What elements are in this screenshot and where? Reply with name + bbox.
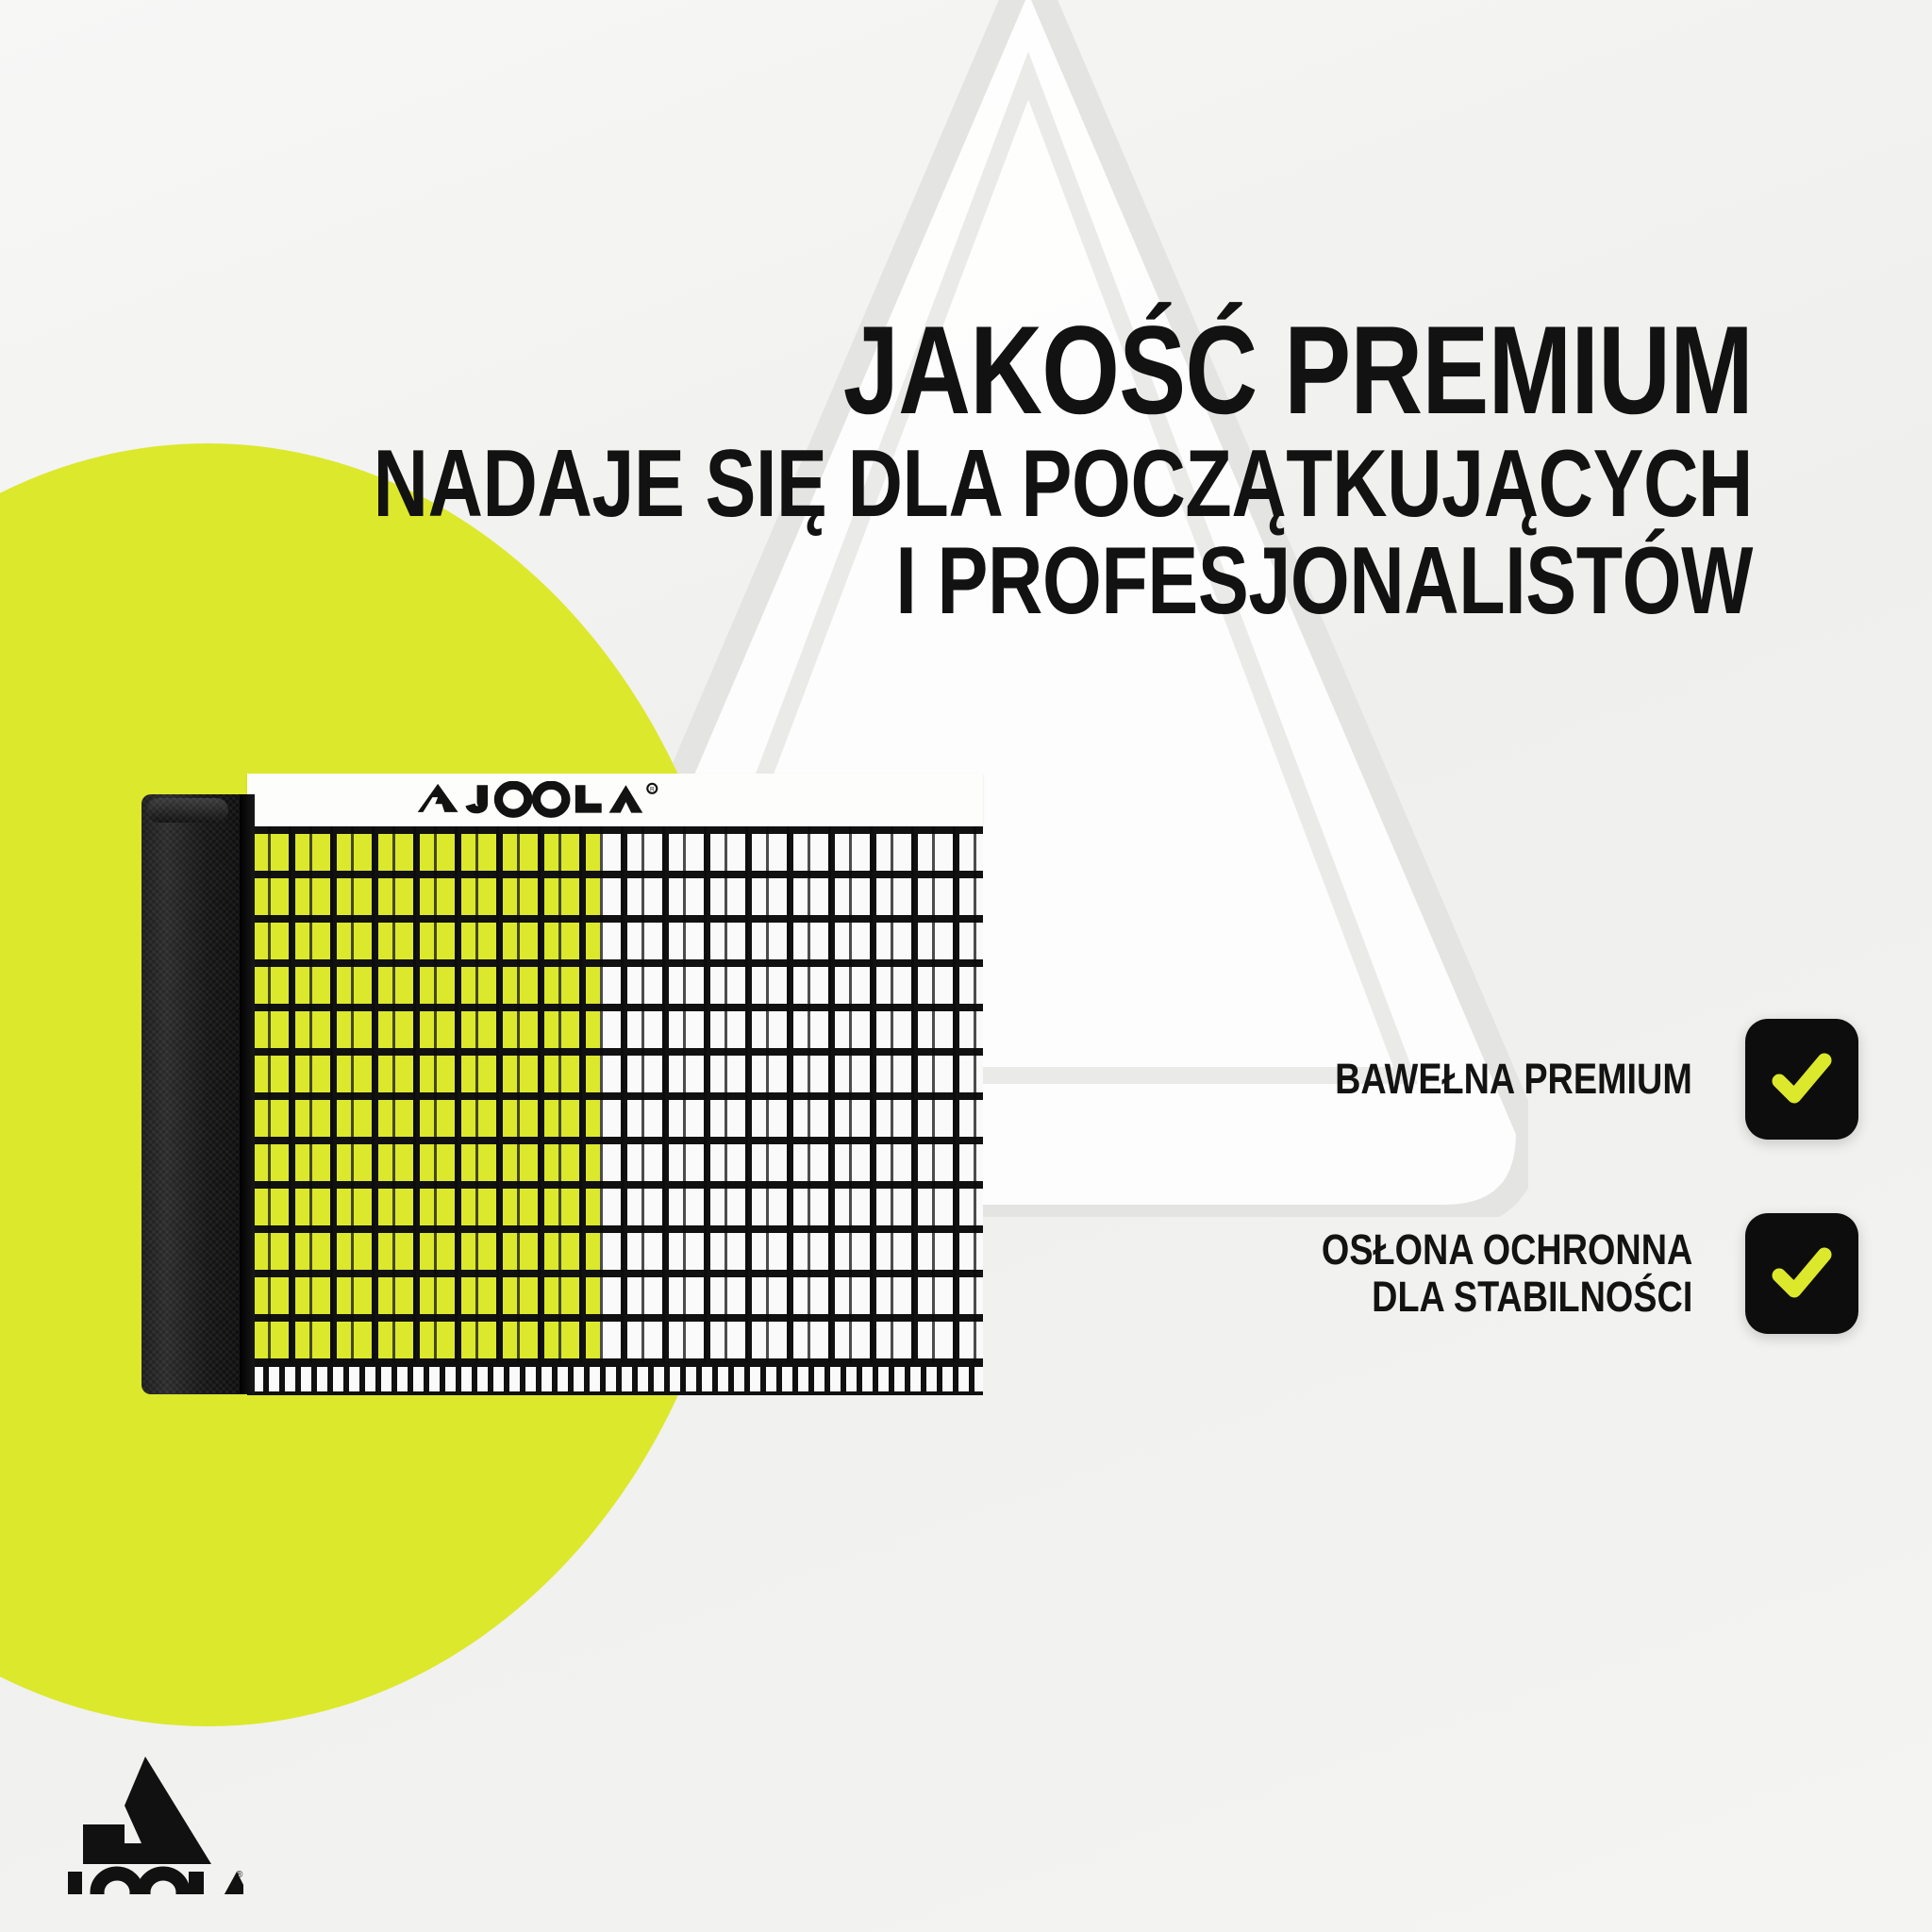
feature-item: BAWEŁNA PREMIUM	[924, 1019, 1858, 1140]
net-mesh-cords-secondary	[247, 826, 983, 1374]
net-top-tape: R	[247, 774, 983, 828]
joola-logo-icon: ®	[55, 1753, 243, 1894]
checkmark-badge	[1745, 1019, 1858, 1140]
feature-list: BAWEŁNA PREMIUM OSŁONA OCHRONNA DLA STAB…	[924, 1019, 1858, 1407]
headline-line-3: I PROFESJONALISTÓW	[351, 533, 1753, 630]
net-bottom-selvedge	[247, 1362, 983, 1395]
checkmark-icon	[1766, 1238, 1838, 1309]
checkmark-icon	[1766, 1043, 1838, 1115]
headline-block: JAKOŚĆ PREMIUM NADAJE SIĘ DLA POCZĄTKUJĄ…	[0, 311, 1753, 630]
feature-item: OSŁONA OCHRONNA DLA STABILNOŚCI	[924, 1213, 1858, 1334]
net-sleeve-seam	[240, 794, 255, 1394]
promo-banner: JAKOŚĆ PREMIUM NADAJE SIĘ DLA POCZĄTKUJĄ…	[0, 0, 1932, 1932]
net-sleeve-cap	[147, 798, 228, 823]
feature-label-line-1: OSŁONA OCHRONNA	[1322, 1226, 1692, 1274]
headline-line-1: JAKOŚĆ PREMIUM	[351, 311, 1753, 432]
brand-logo: ®	[55, 1753, 243, 1894]
net-mesh	[247, 826, 983, 1374]
svg-text:®: ®	[236, 1870, 243, 1880]
product-alt-text: table tennis net, yellow and white mesh …	[0, 0, 1, 1]
joola-logo-icon: R	[412, 781, 702, 819]
feature-label: BAWEŁNA PREMIUM	[1335, 1056, 1692, 1103]
checkmark-badge	[1745, 1213, 1858, 1334]
feature-label-line-1: BAWEŁNA PREMIUM	[1335, 1056, 1692, 1103]
feature-label-line-2: DLA STABILNOŚCI	[1322, 1274, 1692, 1321]
net-rolled-sleeve	[142, 794, 253, 1394]
svg-text:R: R	[650, 787, 655, 793]
headline-line-2: NADAJE SIĘ DLA POCZĄTKUJĄCYCH	[351, 436, 1753, 533]
feature-label: OSŁONA OCHRONNA DLA STABILNOŚCI	[1322, 1226, 1692, 1322]
